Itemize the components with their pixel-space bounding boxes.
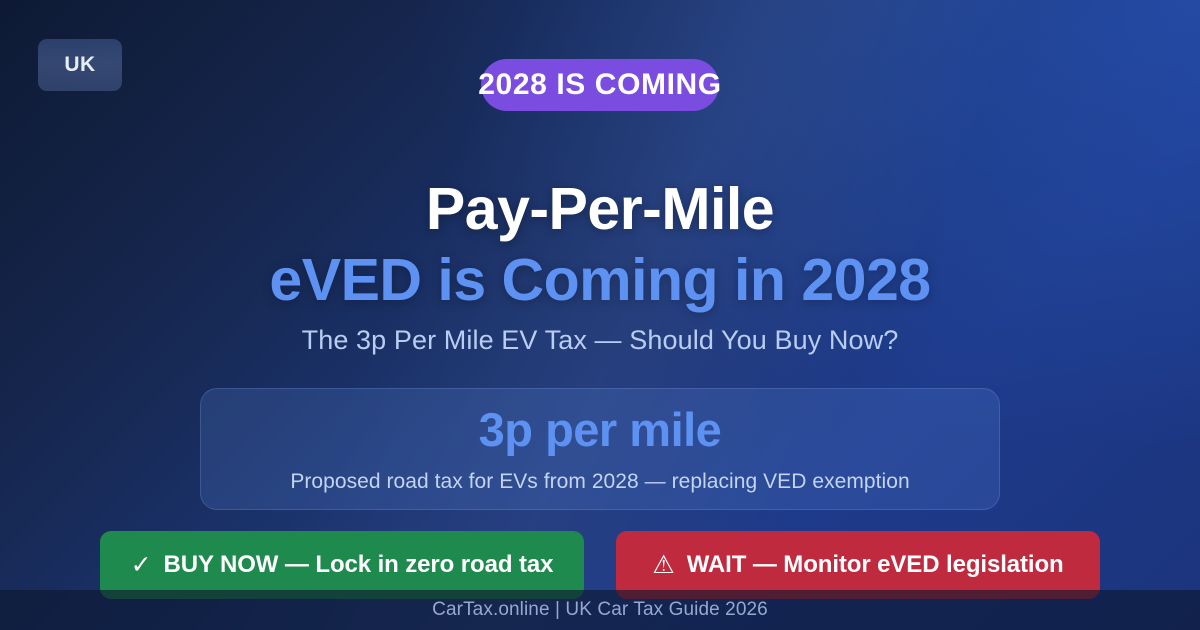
verdict-buy-now-button[interactable]: ✓ BUY NOW — Lock in zero road tax [100, 531, 584, 599]
verdict-buttons: ✓ BUY NOW — Lock in zero road tax ⚠ WAIT… [100, 531, 1100, 599]
eyebrow-label: 2028 IS COMING [478, 68, 721, 102]
verdict-buy-now-label: BUY NOW — Lock in zero road tax [164, 551, 554, 579]
social-share-card: UK 2028 IS COMING Pay-Per-Mile eVED is C… [0, 0, 1200, 630]
stat-card: 3p per mile Proposed road tax for EVs fr… [200, 388, 1000, 510]
headline-line-2: eVED is Coming in 2028 [0, 247, 1200, 313]
warning-triangle-icon: ⚠ [652, 553, 674, 578]
footer-attribution: CarTax.online | UK Car Tax Guide 2026 [432, 599, 768, 621]
eyebrow-wrapper: 2028 IS COMING [0, 59, 1200, 111]
check-icon: ✓ [131, 553, 152, 578]
subheadline: The 3p Per Mile EV Tax — Should You Buy … [0, 325, 1200, 356]
headline-line-1: Pay-Per-Mile [0, 176, 1200, 242]
footer-bar: CarTax.online | UK Car Tax Guide 2026 [0, 590, 1200, 630]
stat-label: Proposed road tax for EVs from 2028 — re… [290, 470, 909, 494]
stat-value: 3p per mile [479, 406, 722, 453]
verdict-wait-label: WAIT — Monitor eVED legislation [687, 551, 1064, 579]
eyebrow-badge: 2028 IS COMING [481, 59, 719, 111]
verdict-wait-button[interactable]: ⚠ WAIT — Monitor eVED legislation [616, 531, 1100, 599]
